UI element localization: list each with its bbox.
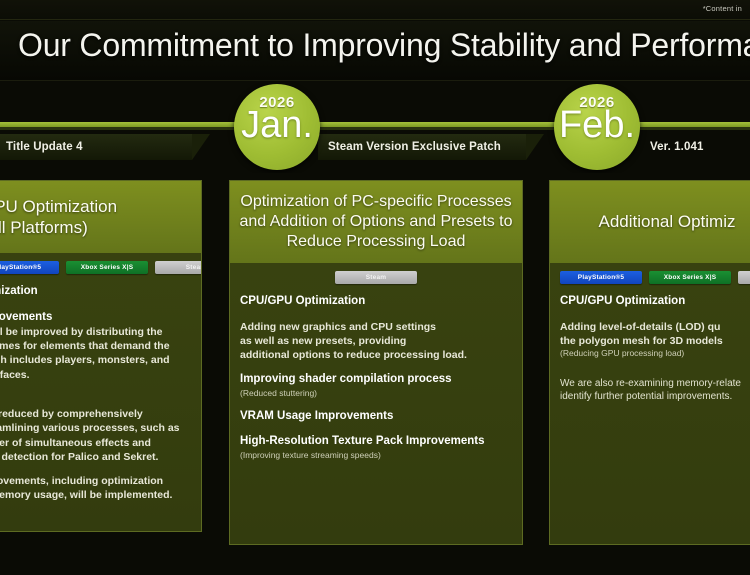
platform-badge-xbox: Xbox Series X|S (649, 271, 731, 284)
timeline-label-version: Ver. 1.041 (640, 134, 750, 160)
content-disclaimer-note: *Content in (703, 4, 742, 13)
platform-badge-list: PlayStation®5 Xbox Series X|S (550, 263, 750, 288)
platform-badge-list: Steam (230, 263, 522, 288)
block-spacer (560, 369, 750, 377)
card-block: ptimization (0, 284, 191, 300)
block-heading: ptimization (0, 284, 191, 300)
card-title: GPU Optimization (All Platforms) (0, 196, 193, 239)
card-header: GPU Optimization (All Platforms) (0, 181, 201, 253)
block-paragraph: We are also re-examining memory-relate i… (560, 377, 750, 403)
card-block: We are also re-examining memory-relate i… (560, 377, 750, 403)
card-title: Additional Optimiz (598, 211, 735, 232)
card-body: CPU/GPU Optimization Adding new graphics… (230, 288, 522, 479)
block-subtext: (Improving texture streaming speeds) (240, 450, 512, 461)
block-heading: CPU/GPU Optimization (560, 294, 750, 310)
slide-title-band: Our Commitment to Improving Stability an… (0, 21, 750, 81)
card-gpu-optimization: GPU Optimization (All Platforms) PlaySta… (0, 180, 202, 532)
block-paragraph: Adding new graphics and CPU settings as … (240, 320, 512, 363)
timeline-label-text: Ver. 1.041 (640, 141, 703, 153)
block-paragraph: Adding level-of-details (LOD) qu the pol… (560, 320, 750, 348)
timeline-label-title-update-4: Title Update 4 (0, 134, 192, 160)
platform-badge-steam (738, 271, 750, 284)
card-body: CPU/GPU Optimization Adding level-of-det… (550, 288, 750, 421)
card-block: CPU/GPU Optimization (240, 294, 512, 310)
timeline-label-text: Title Update 4 (0, 141, 83, 153)
card-block: High-Resolution Texture Pack Improvement… (240, 434, 512, 461)
block-paragraph: d is reduced by comprehensively streamli… (0, 407, 191, 464)
top-note-bar: *Content in (0, 0, 750, 20)
platform-badge-xbox: Xbox Series X|S (66, 261, 148, 274)
timeline-label-steam-patch: Steam Version Exclusive Patch (318, 134, 526, 160)
platform-badge-playstation: PlayStation®5 (0, 261, 59, 274)
page-title: Our Commitment to Improving Stability an… (18, 27, 750, 64)
card-additional-optimization: Additional Optimiz PlayStation®5 Xbox Se… (549, 180, 750, 545)
card-block: CPU/GPU Optimization (560, 294, 750, 310)
platform-badge-steam: Steam (335, 271, 417, 284)
platform-badge-steam: Steam (155, 261, 202, 274)
platform-badge-list: PlayStation®5 Xbox Series X|S Steam (0, 253, 201, 278)
card-header: Optimization of PC-specific Processes an… (230, 181, 522, 263)
card-block: Adding level-of-details (LOD) qu the pol… (560, 320, 750, 359)
block-heading: tion (0, 392, 191, 408)
timeline-marker-feb: 2026 Feb. (554, 84, 640, 170)
marker-month: Feb. (554, 106, 640, 144)
marker-month: Jan. (234, 106, 320, 144)
card-block: mprovements, including optimization of m… (0, 474, 191, 502)
roadmap-timeline: Title Update 4 Steam Version Exclusive P… (0, 81, 750, 173)
optimization-cards-row: GPU Optimization (All Platforms) PlaySta… (0, 173, 750, 575)
block-heading: VRAM Usage Improvements (240, 409, 512, 425)
block-subtext: (Reducing GPU processing load) (560, 348, 750, 359)
card-block: Improving shader compilation process (Re… (240, 372, 512, 399)
block-heading: mprovements (0, 310, 191, 326)
timeline-marker-jan: 2026 Jan. (234, 84, 320, 170)
card-header: Additional Optimiz (550, 181, 750, 263)
card-block: Adding new graphics and CPU settings as … (240, 320, 512, 363)
block-paragraph: mprovements, including optimization of m… (0, 474, 191, 502)
block-subtext: (Reduced stuttering) (240, 388, 512, 399)
card-block: mprovements e will be improved by distri… (0, 310, 191, 382)
block-paragraph: e will be improved by distributing the s… (0, 325, 191, 382)
card-block: tion d is reduced by comprehensively str… (0, 392, 191, 464)
card-pc-specific-optimization: Optimization of PC-specific Processes an… (229, 180, 523, 545)
block-heading: CPU/GPU Optimization (240, 294, 512, 310)
card-block: VRAM Usage Improvements (240, 409, 512, 425)
platform-badge-playstation: PlayStation®5 (560, 271, 642, 284)
block-heading: High-Resolution Texture Pack Improvement… (240, 434, 512, 450)
block-heading: Improving shader compilation process (240, 372, 512, 388)
timeline-label-text: Steam Version Exclusive Patch (318, 141, 501, 153)
card-title: Optimization of PC-specific Processes an… (239, 192, 512, 252)
card-body: ptimization mprovements e will be improv… (0, 278, 201, 520)
